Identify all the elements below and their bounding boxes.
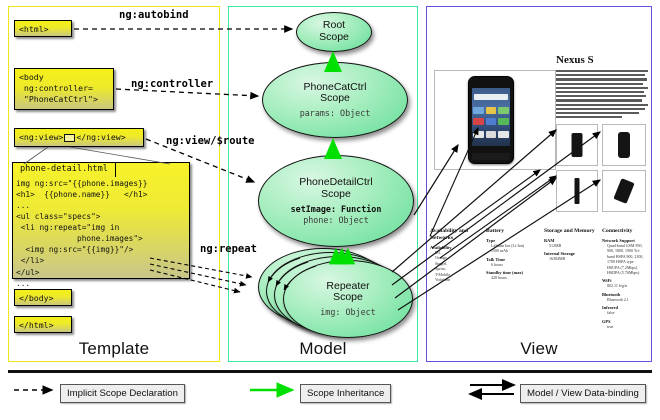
- note-title: phone-detail.html: [20, 163, 116, 176]
- scope-phonedetailctrl: PhoneDetailCtrlScope setImage: Function …: [258, 155, 414, 247]
- label-ng-controller: ng:controller: [131, 78, 213, 90]
- scope-phonecatctrl: PhoneCatCtrlScope params: Object: [262, 62, 408, 138]
- panel-model-label: Model: [229, 339, 417, 359]
- phone-thumbnail-4[interactable]: [602, 170, 646, 212]
- specs-column-connectivity: Connectivity Network Support Quad-band G…: [602, 228, 652, 329]
- specs-column-storage: Storage and Memory RAM 512MB Internal St…: [544, 228, 598, 262]
- scope-detail-line2: Scope: [321, 188, 351, 200]
- panel-view-label: View: [427, 339, 651, 359]
- scope-root: RootScope: [296, 12, 372, 52]
- legend-item-implicit-scope-declaration: Implicit Scope Declaration: [60, 384, 185, 403]
- specs-value: Vodafone: [435, 277, 482, 282]
- ngview-close-label: </ng:view>: [76, 132, 125, 142]
- scope-rep-prop-img: img: Object: [320, 307, 375, 317]
- tag-body-close: </body>: [14, 289, 72, 306]
- note-code: img ng:src="{{phone.images}} <h1> {{phon…: [16, 178, 188, 289]
- specs-value: Bluetooth 2.1: [607, 297, 652, 302]
- product-description: [556, 70, 648, 120]
- specs-value: 6 hours: [491, 262, 540, 267]
- phone-hero-image: [468, 76, 514, 164]
- label-ng-view-route: ng:view/$route: [166, 135, 255, 147]
- scope-cat-line1: PhoneCatCtrl: [303, 81, 366, 93]
- phone-thumbnail-2[interactable]: [602, 124, 646, 166]
- scope-repeater: RepeaterScope img: Object: [283, 260, 413, 338]
- specs-value: 512MB: [549, 243, 598, 248]
- scope-detail-line1: PhoneDetailCtrl: [299, 176, 373, 188]
- specs-value: 428 hours: [491, 275, 540, 280]
- specs-column-availability: Availability and Networks Availability M…: [430, 228, 482, 282]
- panel-template-label: Template: [9, 339, 219, 359]
- tag-html-close: </html>: [14, 316, 72, 333]
- scope-root-line2: Scope: [319, 31, 349, 43]
- phone-thumbnail-3[interactable]: [556, 170, 598, 212]
- ngview-open-label: <ng:view>: [19, 132, 63, 142]
- specs-value: 1500 mAh: [491, 248, 540, 253]
- specs-value: 802.11 b/g/n: [607, 283, 652, 288]
- legend-item-scope-inheritance: Scope Inheritance: [300, 384, 391, 403]
- tag-html-open: <html>: [14, 20, 72, 37]
- specs-column-battery: Battery Type Lithium Ion (Li-Ion) 1500 m…: [486, 228, 540, 281]
- legend-item-model-view-data-binding: Model / View Data-binding: [520, 384, 646, 403]
- specs-value: HSDPA (5.76Mbps): [607, 270, 652, 275]
- specs-col4-header: Connectivity: [602, 228, 652, 235]
- specs-col1-header: Availability and Networks: [430, 228, 482, 242]
- scope-rep-line2: Scope: [333, 291, 363, 303]
- specs-value: true: [607, 324, 652, 329]
- specs-col3-header: Storage and Memory: [544, 228, 598, 235]
- tag-body-open: <body ng:controller= "PhoneCatCtrl">: [14, 68, 114, 110]
- specs-col2-header: Battery: [486, 228, 540, 235]
- diagram-canvas: Template Model View <html> <body ng:cont…: [0, 0, 660, 420]
- phone-thumbnail-1[interactable]: [556, 124, 598, 166]
- scope-cat-line2: Scope: [320, 92, 350, 104]
- tag-ngview: <ng:view></ng:view>: [14, 128, 144, 147]
- label-ng-repeat: ng:repeat: [200, 243, 257, 255]
- specs-value: 16384MB: [549, 256, 598, 261]
- legend-divider: [8, 370, 652, 373]
- product-title: Nexus S: [556, 54, 594, 66]
- specs-table: Availability and Networks Availability M…: [430, 228, 650, 338]
- scope-detail-prop-phone: phone: Object: [303, 215, 369, 225]
- scope-rep-line1: Repeater: [326, 280, 369, 292]
- scope-detail-prop-setimage: setImage: Function: [291, 204, 382, 214]
- label-ng-autobind: ng:autobind: [119, 9, 189, 21]
- scope-root-line1: Root: [323, 19, 345, 31]
- ngview-placeholder-icon: [64, 134, 75, 142]
- specs-value: false: [607, 310, 652, 315]
- scope-cat-prop-params: params: Object: [300, 108, 371, 118]
